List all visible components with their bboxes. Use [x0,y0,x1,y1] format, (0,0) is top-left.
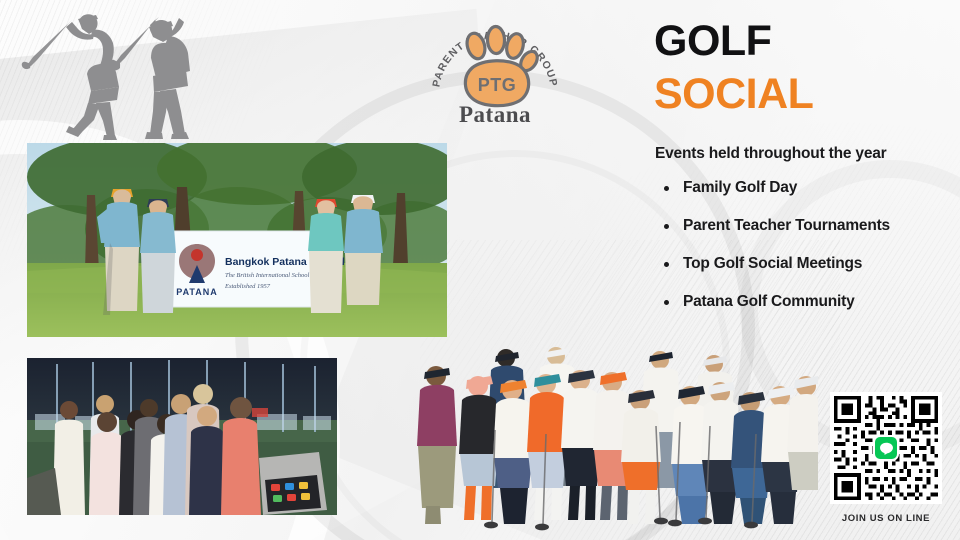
headline-line-golf: GOLF [654,20,954,63]
male-golfer-silhouette [108,17,190,139]
patana-wordmark: Patana [459,102,531,127]
golfers-group-cutout [398,338,818,536]
event-item-patana-golf-community: Patana Golf Community [655,293,955,311]
golfer-photo-figure [308,199,344,313]
poster-canvas: PARENT TEACHER GROUP PTG Patana GOLF SOC… [0,0,960,540]
golfer-cutout-figure [527,374,567,520]
female-golfer-silhouette [22,14,119,140]
golfer-cutout-figure [417,366,457,524]
event-item-parent-teacher-tournaments: Parent Teacher Tournaments [655,217,955,235]
golfer-photo-figure [344,195,383,305]
ptg-patana-logo: PARENT TEACHER GROUP PTG Patana [424,6,566,128]
qr-caption: JOIN US ON LINE [830,513,942,524]
svg-text:PATANA: PATANA [176,287,218,297]
golfer-silhouettes-decoration [18,8,228,140]
paw-print-icon: PTG [464,26,540,105]
qr-code[interactable] [830,392,942,504]
event-item-family-golf-day: Family Golf Day [655,179,955,197]
events-list: Family Golf Day Parent Teacher Tournamen… [655,179,955,311]
line-qr-block[interactable]: JOIN US ON LINE [830,392,942,524]
topgolf-group-photo [27,358,337,515]
events-heading: Events held throughout the year [655,145,955,163]
banner-established: Established 1957 [224,283,271,290]
ptg-monogram: PTG [478,75,517,95]
events-section: Events held throughout the year Family G… [655,145,955,311]
line-app-icon [873,435,899,461]
patana-banner-logo: PATANA [176,244,218,297]
poster-headline: GOLF SOCIAL [654,20,954,116]
event-item-top-golf-social-meetings: Top Golf Social Meetings [655,255,955,273]
headline-line-social: SOCIAL [654,73,954,116]
golf-course-team-photo: PATANA Bangkok Patana School The British… [27,143,447,337]
golfer-photo-figure [140,199,176,313]
bay-console [259,452,327,515]
